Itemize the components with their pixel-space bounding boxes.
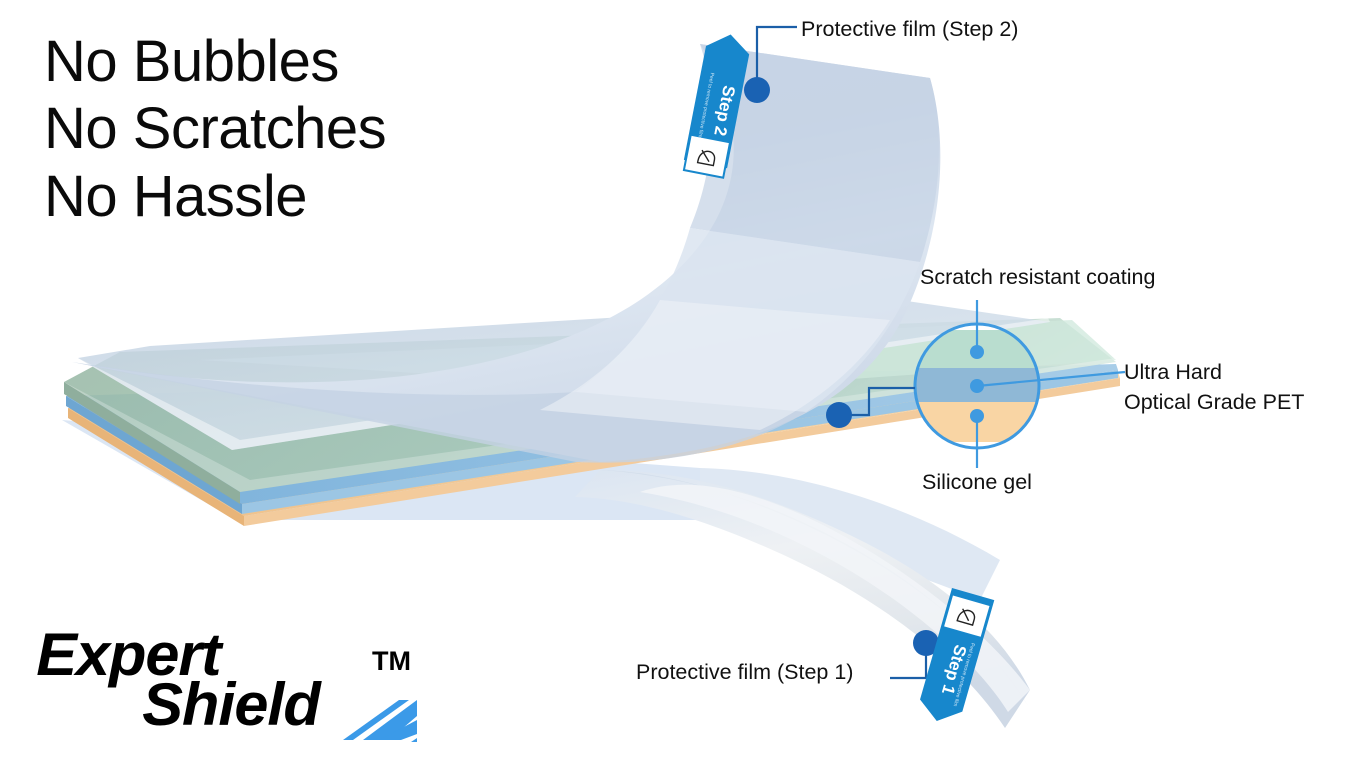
headline-line-1: No Bubbles: [44, 28, 386, 95]
brand-trademark: TM: [372, 646, 411, 677]
headline-line-3: No Hassle: [44, 163, 386, 230]
magnifier-dot-pet: [970, 379, 984, 393]
headline-line-2: No Scratches: [44, 95, 386, 162]
label-pet-line-1: Ultra Hard: [1124, 358, 1304, 388]
tab-step-2-icon-box: [684, 135, 730, 178]
callout-dot-step2: [744, 77, 770, 103]
magnifier-dot-scratch-coating: [970, 345, 984, 359]
brand-logo: Expert Shield TM: [28, 618, 428, 748]
label-pet-line-2: Optical Grade PET: [1124, 388, 1304, 418]
magnifier-dot-silicone-gel: [970, 409, 984, 423]
label-silicone-gel: Silicone gel: [922, 470, 1032, 495]
headline-block: No Bubbles No Scratches No Hassle: [44, 28, 386, 230]
callout-dot-pet-edge: [826, 402, 852, 428]
label-protective-film-step2: Protective film (Step 2): [801, 17, 1018, 42]
label-scratch-resistant-coating: Scratch resistant coating: [920, 265, 1155, 290]
label-ultra-hard-pet: Ultra Hard Optical Grade PET: [1124, 358, 1304, 417]
label-protective-film-step1: Protective film (Step 1): [636, 660, 853, 685]
brand-word-shield: Shield: [142, 670, 320, 739]
infographic-canvas: Step 2 Peel to remove protective film St…: [0, 0, 1352, 767]
blue-striped-triangle-icon: [343, 696, 433, 748]
